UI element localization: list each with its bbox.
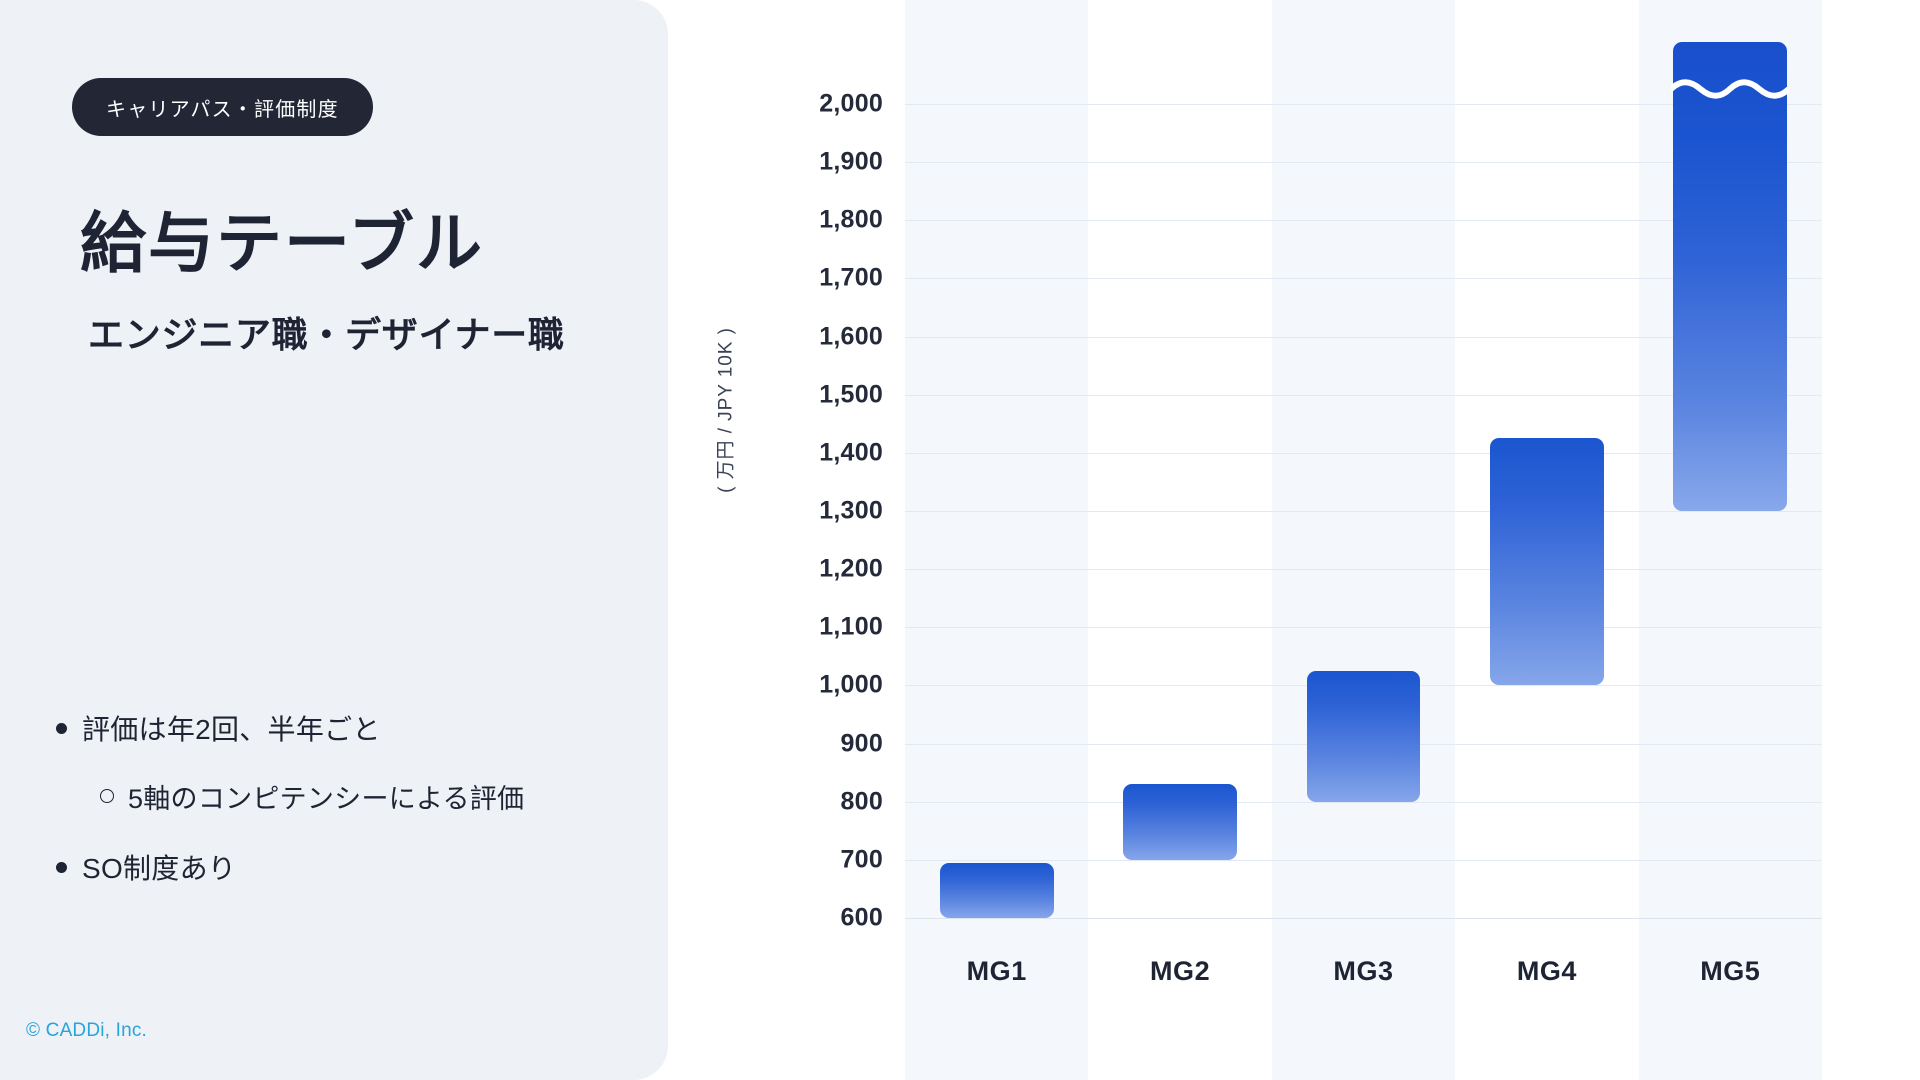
y-axis-label: ( 万円 / JPY 10K ) [711,327,738,493]
range-bar[interactable] [1123,784,1237,860]
range-bar[interactable] [1673,42,1787,511]
y-axis-tick-label: 1,400 [819,438,883,467]
gridline [905,860,1822,861]
category-badge: キャリアパス・評価制度 [72,78,373,136]
category-badge-label: キャリアパス・評価制度 [106,93,339,122]
range-bar[interactable] [940,863,1054,918]
gridline [905,802,1822,803]
page-subtitle: エンジニア職・デザイナー職 [88,306,565,358]
bullet-list: 評価は年2回、半年ごと 5軸のコンピテンシーによる評価 SO制度あり [56,712,656,922]
x-axis-tick-label: MG4 [1517,956,1577,987]
gridline [905,627,1822,628]
list-item-label: 5軸のコンピテンシーによる評価 [128,782,524,817]
y-axis-tick-label: 1,600 [819,322,883,351]
list-item: SO制度あり [56,851,656,887]
bullet-dot-icon [56,723,82,734]
y-axis-tick-label: 800 [841,787,883,816]
bullet-dot-icon [56,862,82,873]
x-axis-tick-label: MG3 [1333,956,1393,987]
y-axis-tick-label: 1,700 [819,264,883,293]
copyright-footer: © CADDi, Inc. [26,1020,147,1042]
y-axis-tick-label: 2,000 [819,90,883,119]
salary-range-chart: ( 万円 / JPY 10K ) 2,0001,9001,8001,7001,6… [668,0,1920,1080]
y-axis-tick-label: 1,200 [819,555,883,584]
y-axis-tick-label: 900 [841,729,883,758]
plot-area: 2,0001,9001,8001,7001,6001,5001,4001,300… [905,104,1822,918]
y-axis-tick-label: 600 [841,904,883,933]
range-bar[interactable] [1307,671,1421,802]
x-axis-tick-label: MG2 [1150,956,1210,987]
page-title: 給与テーブル [80,190,484,286]
gridline [905,918,1822,919]
slide-root: キャリアパス・評価制度 給与テーブル エンジニア職・デザイナー職 評価は年2回、… [0,0,1920,1080]
list-item: 5軸のコンピテンシーによる評価 [100,782,656,817]
y-axis-tick-label: 1,900 [819,148,883,177]
x-axis-tick-label: MG5 [1700,956,1760,987]
gridline [905,569,1822,570]
y-axis-tick-label: 1,300 [819,497,883,526]
left-panel: キャリアパス・評価制度 給与テーブル エンジニア職・デザイナー職 評価は年2回、… [0,0,668,1080]
list-item-label: 評価は年2回、半年ごと [82,712,381,748]
x-axis-tick-label: MG1 [967,956,1027,987]
gridline [905,511,1822,512]
y-axis-tick-label: 700 [841,845,883,874]
list-item-label: SO制度あり [82,851,236,887]
y-axis-tick-label: 1,000 [819,671,883,700]
list-item: 評価は年2回、半年ごと [56,712,656,748]
range-bar[interactable] [1490,438,1604,685]
y-axis-tick-label: 1,800 [819,206,883,235]
y-axis-tick-label: 1,100 [819,613,883,642]
axis-break-wave-icon [1671,76,1789,102]
bullet-circle-icon [100,789,128,803]
y-axis-tick-label: 1,500 [819,380,883,409]
